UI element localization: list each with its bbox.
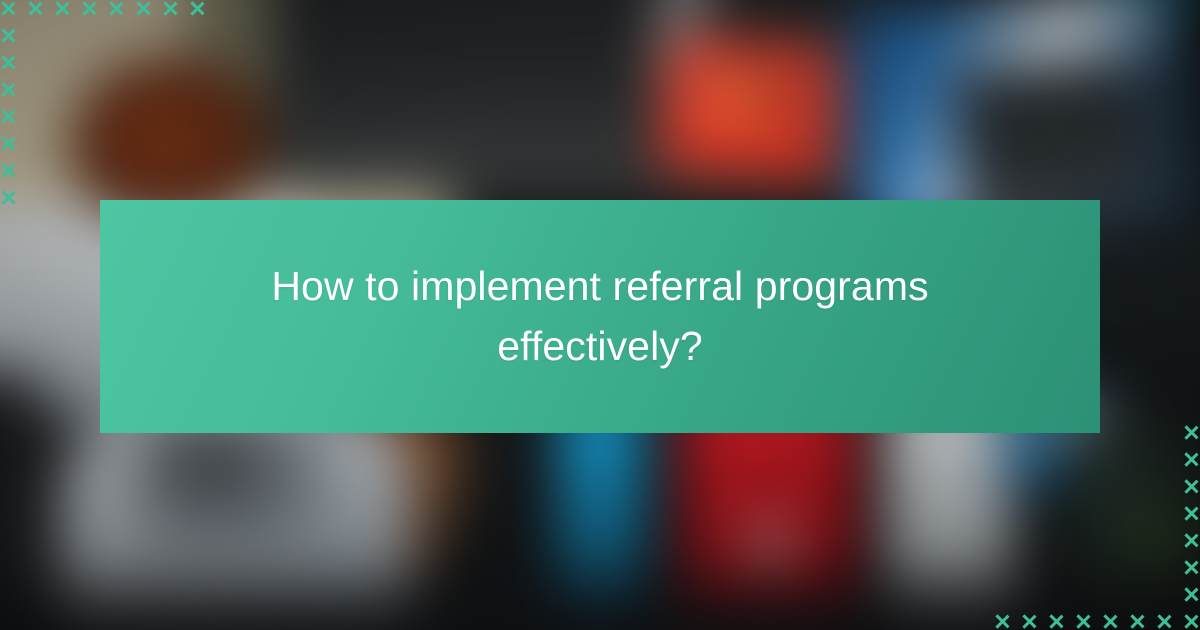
x-mark-icon: [135, 0, 152, 17]
page-title: How to implement referral programs effec…: [220, 257, 980, 376]
x-mark-icon: [0, 27, 17, 44]
x-mark-icon: [1129, 613, 1146, 630]
x-mark-icon: [0, 108, 17, 125]
x-mark-icon: [27, 0, 44, 17]
x-mark-icon: [0, 162, 17, 179]
x-mark-icon: [0, 135, 17, 152]
x-mark-icon: [0, 189, 17, 206]
x-mark-icon: [1183, 478, 1200, 495]
x-mark-icon: [108, 0, 125, 17]
x-mark-icon: [1183, 559, 1200, 576]
x-mark-icon: [1102, 613, 1119, 630]
x-mark-icon: [1183, 532, 1200, 549]
x-mark-icon: [54, 0, 71, 17]
x-mark-icon: [1183, 451, 1200, 468]
decorative-x-pattern-bottom-right: [960, 420, 1200, 630]
article-hero-card: How to implement referral programs effec…: [0, 0, 1200, 630]
x-mark-icon: [0, 54, 17, 71]
x-mark-icon: [189, 0, 206, 17]
x-mark-icon: [162, 0, 179, 17]
x-mark-icon: [0, 81, 17, 98]
decorative-x-pattern-top-left: [0, 0, 240, 230]
title-banner: How to implement referral programs effec…: [100, 200, 1100, 433]
x-mark-icon: [1156, 613, 1173, 630]
x-mark-icon: [1183, 613, 1200, 630]
x-mark-icon: [1021, 613, 1038, 630]
x-mark-icon: [1075, 613, 1092, 630]
x-mark-icon: [1048, 613, 1065, 630]
x-mark-icon: [1183, 424, 1200, 441]
x-mark-icon: [0, 0, 17, 17]
x-mark-icon: [994, 613, 1011, 630]
x-mark-icon: [81, 0, 98, 17]
x-mark-icon: [1183, 505, 1200, 522]
x-mark-icon: [1183, 586, 1200, 603]
